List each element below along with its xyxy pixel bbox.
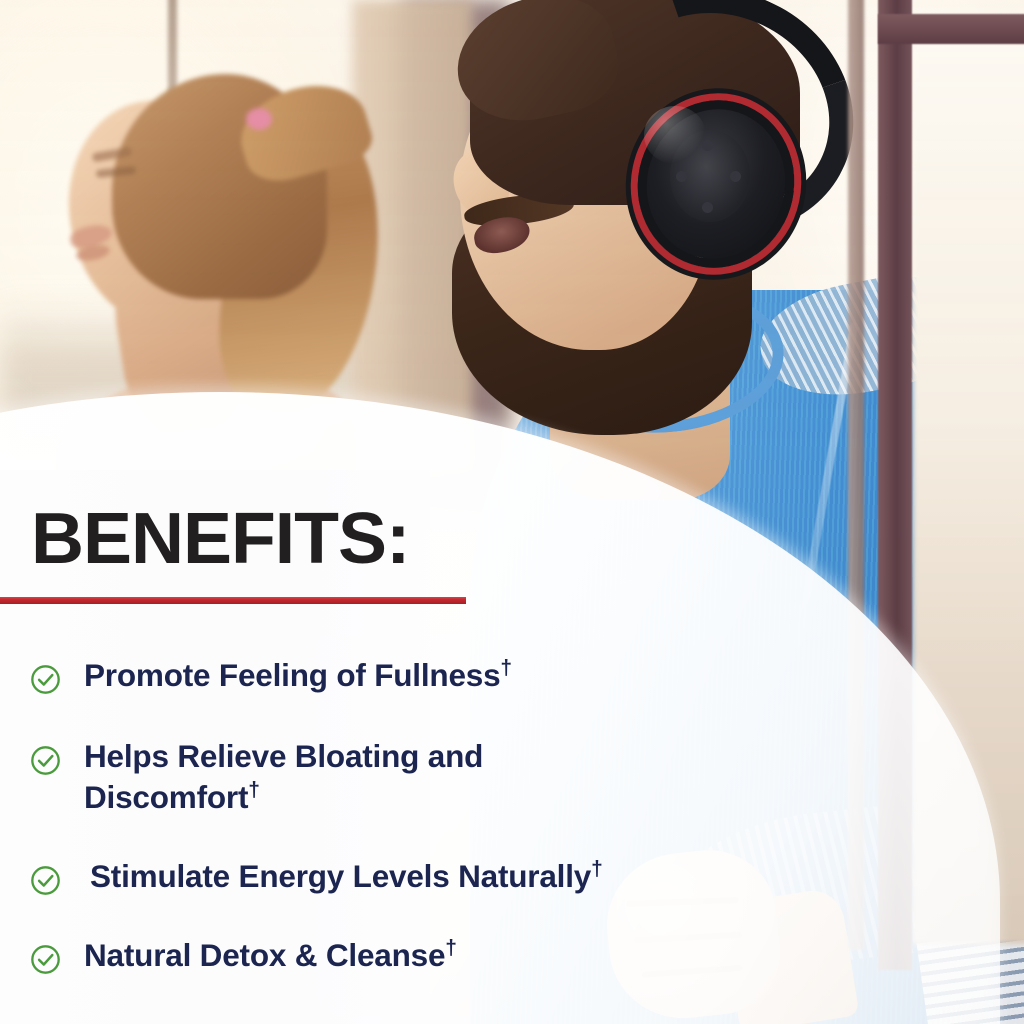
benefits-list: Promote Feeling of Fullness† Helps Relie… xyxy=(0,655,780,976)
benefit-text-2: Helps Relieve Bloating and Discomfort† xyxy=(84,736,584,818)
benefit-text-3: Stimulate Energy Levels Naturally† xyxy=(90,856,603,897)
list-item: Stimulate Energy Levels Naturally† xyxy=(0,856,780,897)
list-item: Helps Relieve Bloating and Discomfort† xyxy=(0,736,780,818)
check-circle-icon xyxy=(30,944,61,975)
benefits-infographic: BENEFITS: Promote Feeling of Fullness† xyxy=(0,0,1024,1024)
content-panel: BENEFITS: Promote Feeling of Fullness† xyxy=(0,0,1024,1024)
benefit-text-4: Natural Detox & Cleanse† xyxy=(84,935,457,976)
benefit-text-1: Promote Feeling of Fullness† xyxy=(84,655,512,696)
list-item: Natural Detox & Cleanse† xyxy=(0,935,780,976)
check-circle-icon xyxy=(30,745,61,776)
page-title: BENEFITS: xyxy=(31,503,409,575)
check-circle-icon xyxy=(30,664,61,695)
list-item: Promote Feeling of Fullness† xyxy=(0,655,780,696)
title-underline-rule xyxy=(0,597,466,604)
check-circle-icon xyxy=(30,865,61,896)
